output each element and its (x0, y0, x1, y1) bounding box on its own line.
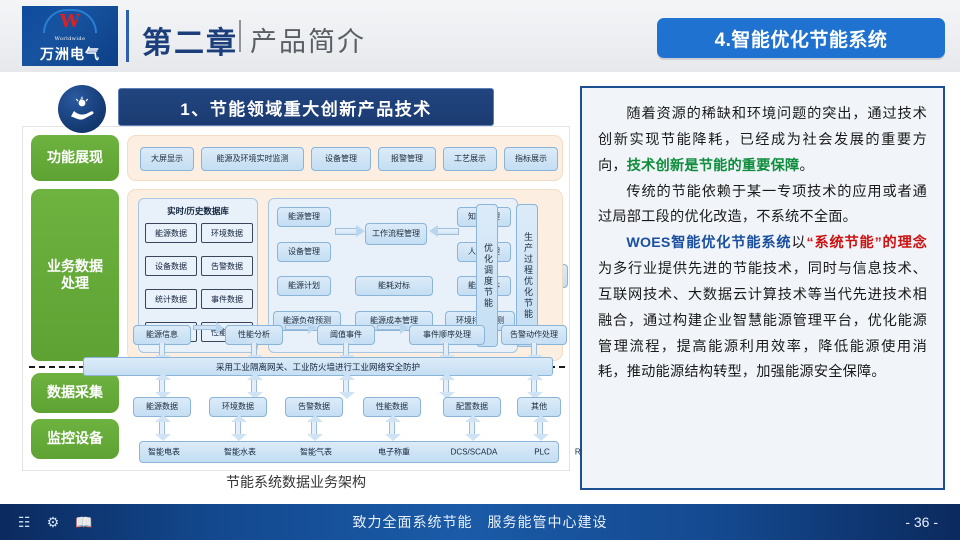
device-bar: 智能电表 智能水表 智能气表 电子称重 DCS/SCADA PLC RTU 其他 (139, 441, 559, 463)
slide-header: W Worldwide 万洲电气 第二章 产品简介 4.智能优化节能系统 (0, 0, 960, 72)
company-logo: W Worldwide 万洲电气 (22, 6, 118, 66)
arrow-to-workflow-right (335, 228, 357, 235)
logo-mark-icon: W (43, 9, 97, 35)
database-title: 实时/历史数据库 (139, 205, 257, 217)
function-layer-panel: 大屏显示 能源及环境实时监测 设备管理 报警管理 工艺展示 指标展示 (127, 135, 563, 181)
layer-label-function: 功能展现 (31, 135, 119, 181)
device-label[interactable]: PLC (534, 448, 550, 457)
layer-label-text: 数据采集 (47, 384, 103, 402)
security-bar: 采用工业隔离网关、工业防火墙进行工业网络安全防护 (83, 357, 553, 376)
description-panel: 随着资源的稀缺和环境问题的突出，通过技术创新实现节能降耗，已经成为社会发展的重要… (580, 86, 945, 490)
workflow-left-box[interactable]: 能源管理 (277, 207, 331, 227)
db-cell[interactable]: 事件数据 (201, 289, 253, 309)
layer-label-text: 功能展现 (47, 149, 103, 167)
business-box[interactable]: 能源计划 (277, 276, 331, 296)
collect-box[interactable]: 配置数据 (443, 397, 501, 417)
diagram-caption: 节能系统数据业务架构 (22, 472, 570, 492)
p1-part-c: 。 (799, 158, 813, 174)
collect-box[interactable]: 性能数据 (363, 397, 421, 417)
header-divider (126, 10, 129, 62)
energy-hand-icon (58, 85, 106, 133)
connector-arrow (311, 421, 317, 435)
p3-product-name: WOES智能优化节能系统 (626, 235, 791, 251)
paragraph-2: 传统的节能依赖于某一专项技术的应用或者通过局部工段的优化改造，不系统不全面。 (598, 180, 927, 232)
db-cell[interactable]: 设备数据 (145, 256, 197, 276)
footer-slogan: 致力全面系统节能 服务能管中心建设 (0, 504, 960, 540)
page-number: - 36 - (905, 504, 938, 540)
function-box[interactable]: 指标展示 (504, 147, 558, 171)
p3-highlight: “系统节能”的理念 (807, 235, 927, 251)
function-box[interactable]: 报警管理 (378, 147, 436, 171)
function-box[interactable]: 设备管理 (311, 147, 371, 171)
workflow-left-box[interactable]: 设备管理 (277, 242, 331, 262)
connector-arrow (443, 379, 449, 393)
paragraph-1: 随着资源的稀缺和环境问题的突出，通过技术创新实现节能降耗，已经成为社会发展的重要… (598, 102, 927, 180)
flow-arrow (377, 325, 401, 330)
connector-arrow (343, 379, 349, 393)
device-label[interactable]: DCS/SCADA (451, 448, 498, 457)
logo-english-text: Worldwide (55, 36, 86, 42)
business-box[interactable]: 能耗对标 (355, 276, 433, 296)
layer-label-text: 业务数据处理 (47, 258, 103, 293)
connector-arrow (537, 421, 543, 435)
device-label[interactable]: 智能水表 (224, 447, 256, 458)
connector-arrow (443, 342, 449, 356)
connector-arrow (251, 342, 257, 356)
layer-label-device: 监控设备 (31, 419, 119, 459)
workflow-center-box[interactable]: 工作流程管理 (365, 223, 427, 245)
section-banner-label: 1、节能领域重大创新产品技术 (180, 95, 431, 120)
section-banner: 1、节能领域重大创新产品技术 (118, 88, 494, 126)
db-cell[interactable]: 统计数据 (145, 289, 197, 309)
collect-box[interactable]: 环境数据 (209, 397, 267, 417)
db-cell[interactable]: 环境数据 (201, 223, 253, 243)
connector-arrow (235, 421, 241, 435)
connector-arrow (469, 421, 475, 435)
device-label[interactable]: 智能气表 (300, 447, 332, 458)
p3-part-d: 为多行业提供先进的节能技术，同时与信息技术、互联网技术、大数据云计算技术等当代先… (598, 261, 927, 380)
chapter-title: 第二章 (142, 18, 238, 62)
p1-highlight: 技术创新是节能的重要保障 (627, 158, 800, 174)
slide-footer: ☷ ⚙ 📖 致力全面系统节能 服务能管中心建设 - 36 - (0, 504, 960, 540)
arrow-to-workflow-left (437, 228, 459, 235)
function-box[interactable]: 能源及环境实时监测 (201, 147, 304, 171)
connector-arrow (251, 379, 257, 393)
layer-label-collect: 数据采集 (31, 373, 119, 413)
p3-part-b: 以 (791, 235, 806, 251)
layer-label-business: 业务数据处理 (31, 189, 119, 361)
collect-box[interactable]: 能源数据 (133, 397, 191, 417)
connector-arrow (159, 342, 165, 356)
flow-arrow (285, 325, 309, 330)
logo-letter: W (60, 12, 80, 32)
db-cell[interactable]: 能源数据 (145, 223, 197, 243)
collect-box[interactable]: 其他 (517, 397, 561, 417)
layer-label-text: 监控设备 (47, 430, 103, 448)
db-cell[interactable]: 告警数据 (201, 256, 253, 276)
function-box[interactable]: 工艺展示 (443, 147, 497, 171)
device-label[interactable]: 智能电表 (148, 447, 180, 458)
connector-arrow (159, 421, 165, 435)
connector-arrow (531, 379, 537, 393)
function-box[interactable]: 大屏显示 (140, 147, 194, 171)
architecture-diagram: 功能展现 业务数据处理 数据采集 监控设备 大屏显示 能源及环境实时监测 设备管… (22, 126, 570, 471)
title-separator (239, 20, 241, 52)
connector-arrow (389, 421, 395, 435)
section-tag-label: 4.智能优化节能系统 (715, 25, 888, 52)
connector-arrow (159, 379, 165, 393)
chapter-subtitle: 产品简介 (250, 20, 366, 59)
flow-arrow (193, 325, 217, 330)
paragraph-3: WOES智能优化节能系统以“系统节能”的理念为多行业提供先进的节能技术，同时与信… (598, 231, 927, 386)
section-tag: 4.智能优化节能系统 (657, 18, 945, 58)
device-label[interactable]: 电子称重 (378, 447, 410, 458)
connector-arrow (531, 342, 537, 356)
logo-chinese-text: 万洲电气 (40, 44, 100, 64)
connector-arrow (343, 342, 349, 356)
collect-box[interactable]: 告警数据 (285, 397, 343, 417)
